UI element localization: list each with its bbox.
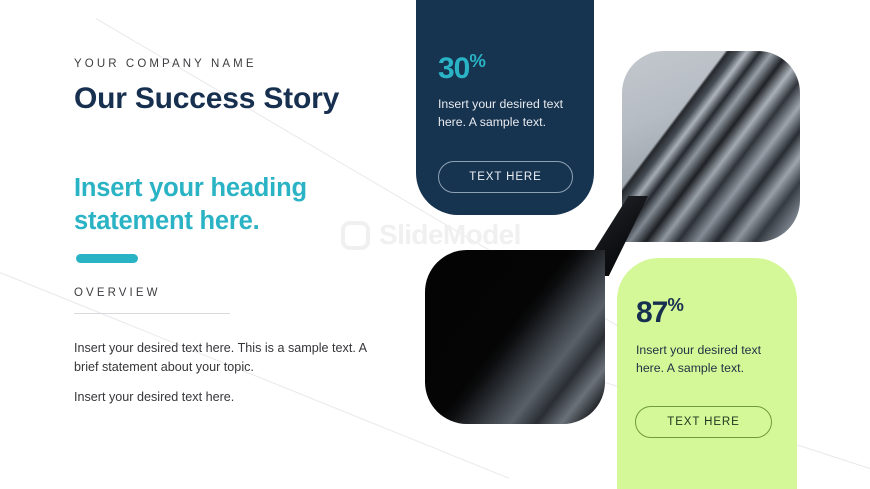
left-text-column: YOUR COMPANY NAME Our Success Story: [74, 58, 394, 117]
slide-canvas: YOUR COMPANY NAME Our Success Story Inse…: [0, 0, 870, 489]
navy-stat-description: Insert your desired text here. A sample …: [438, 95, 580, 131]
green-stat-card: 87% Insert your desired text here. A sam…: [617, 258, 797, 489]
navy-text-here-button[interactable]: TEXT HERE: [438, 161, 573, 193]
green-stat-description: Insert your desired text here. A sample …: [636, 341, 778, 377]
overview-section-label: OVERVIEW: [74, 287, 161, 299]
navy-stat-value: 30%: [438, 52, 486, 84]
page-title: Our Success Story: [74, 82, 394, 117]
green-percent-symbol: %: [667, 294, 684, 315]
navy-stat-card: 30% Insert your desired text here. A sam…: [416, 0, 594, 215]
overview-paragraph-1: Insert your desired text here. This is a…: [74, 339, 374, 379]
navy-percent-symbol: %: [469, 50, 486, 71]
green-text-here-button[interactable]: TEXT HERE: [635, 406, 772, 438]
architecture-photo-top-right: [622, 51, 800, 242]
green-stat-number: 87: [636, 296, 667, 329]
company-name-label: YOUR COMPANY NAME: [74, 58, 394, 70]
accent-underline-bar: [76, 254, 138, 263]
heading-statement: Insert your heading statement here.: [74, 172, 374, 237]
overview-paragraph-2: Insert your desired text here.: [74, 388, 374, 408]
overview-divider: [74, 313, 230, 314]
navy-stat-number: 30: [438, 52, 469, 85]
green-stat-value: 87%: [636, 296, 684, 328]
architecture-photo-bottom-left: [425, 250, 605, 424]
watermark-text: SlideModel: [379, 219, 521, 251]
